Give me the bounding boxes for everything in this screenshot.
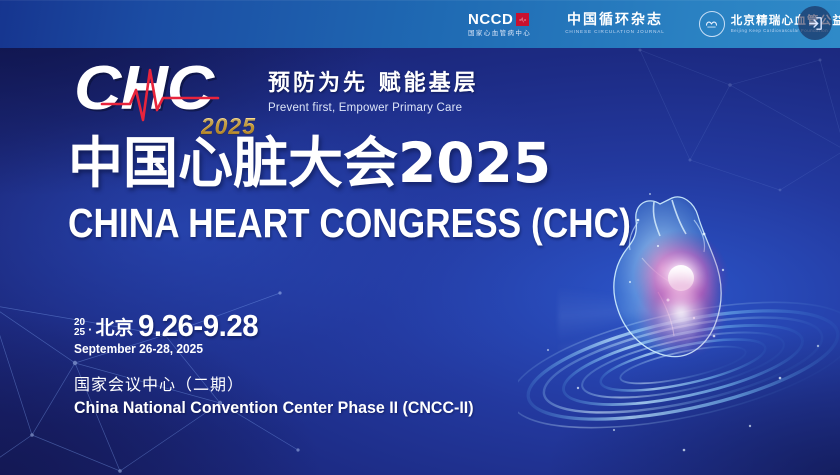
nccd-chinese-name: 国家心血管病中心 <box>468 30 531 37</box>
login-icon <box>807 15 824 32</box>
ccj-chinese-name: 中国循环杂志 <box>567 13 663 27</box>
brand-row: CHC 2025 预防为先 赋能基层 Prevent first, Empowe… <box>74 58 479 136</box>
page-title-chinese: 中国心脏大会2025 <box>68 136 551 191</box>
network-constellation-secondary-icon <box>620 30 840 200</box>
nccd-square-mark-icon <box>516 13 529 26</box>
foundation-emblem-icon <box>699 11 725 37</box>
nccd-wordmark-row: NCCD <box>468 12 529 27</box>
logo-chinese-circulation-journal[interactable]: 中国循环杂志 CHINESE CIRCULATION JOURNAL <box>565 13 665 35</box>
date-city: 北京 <box>95 319 133 341</box>
login-button[interactable] <box>798 6 832 40</box>
chc-logo: CHC 2025 <box>74 58 254 136</box>
top-bar: NCCD 国家心血管病中心 中国循环杂志 CHINESE CIRCULATION… <box>0 0 840 48</box>
venue-english: China National Convention Center Phase I… <box>74 398 474 418</box>
date-range: 9.26-9.28 <box>138 310 258 341</box>
year-bottom: 25 <box>74 328 85 338</box>
date-range-english: September 26-28, 2025 <box>74 341 203 356</box>
slogan-english: Prevent first, Empower Primary Care <box>268 102 479 114</box>
partner-logos: NCCD 国家心血管病中心 中国循环杂志 CHINESE CIRCULATION… <box>468 11 840 37</box>
ccj-english-name: CHINESE CIRCULATION JOURNAL <box>565 30 665 35</box>
page-title-english: CHINA HEART CONGRESS (CHC) <box>68 203 631 244</box>
date-separator: · <box>87 323 93 341</box>
logo-nccd[interactable]: NCCD 国家心血管病中心 <box>468 12 531 37</box>
conference-poster: NCCD 国家心血管病中心 中国循环杂志 CHINESE CIRCULATION… <box>0 0 840 475</box>
slogan-chinese: 预防为先 赋能基层 <box>268 72 479 96</box>
venue-chinese: 国家会议中心（二期） <box>74 371 244 395</box>
date-row: 20 25 · 北京 9.26-9.28 <box>74 310 265 341</box>
year-stack: 20 25 <box>74 318 85 341</box>
nccd-wordmark: NCCD <box>468 12 513 27</box>
slogan-block: 预防为先 赋能基层 Prevent first, Empower Primary… <box>268 58 479 114</box>
